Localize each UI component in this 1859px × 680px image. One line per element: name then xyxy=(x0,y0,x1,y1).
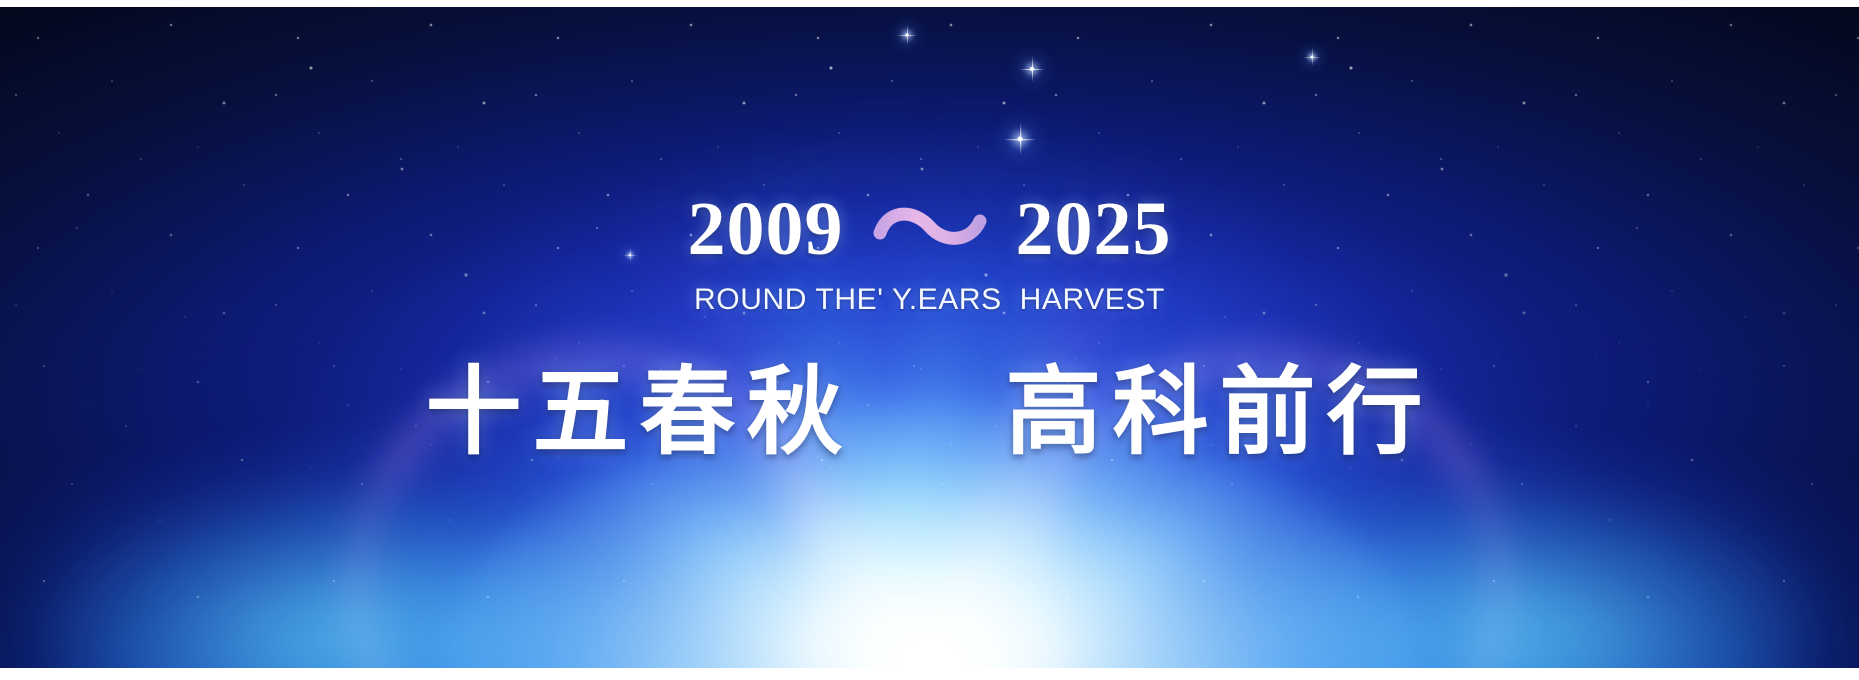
headline-phrase-left: 十五春秋 xyxy=(426,361,854,465)
year-end: 2025 xyxy=(1016,191,1172,267)
english-subtitle: ROUND THE' Y.EARS HARVEST xyxy=(694,283,1165,317)
wave-tilde-icon xyxy=(874,194,986,264)
anniversary-banner: 2009 2025 xyxy=(0,0,1859,680)
banner-content: 2009 2025 xyxy=(0,7,1859,668)
year-start: 2009 xyxy=(688,191,844,267)
top-trim-strip xyxy=(0,0,1859,7)
year-range: 2009 2025 xyxy=(688,191,1172,267)
chinese-headline: 十五春秋 高科前行 xyxy=(426,361,1434,465)
artwork-stage: 2009 2025 xyxy=(0,7,1859,668)
bottom-trim-strip xyxy=(0,668,1859,680)
headline-phrase-right: 高科前行 xyxy=(1006,361,1434,465)
